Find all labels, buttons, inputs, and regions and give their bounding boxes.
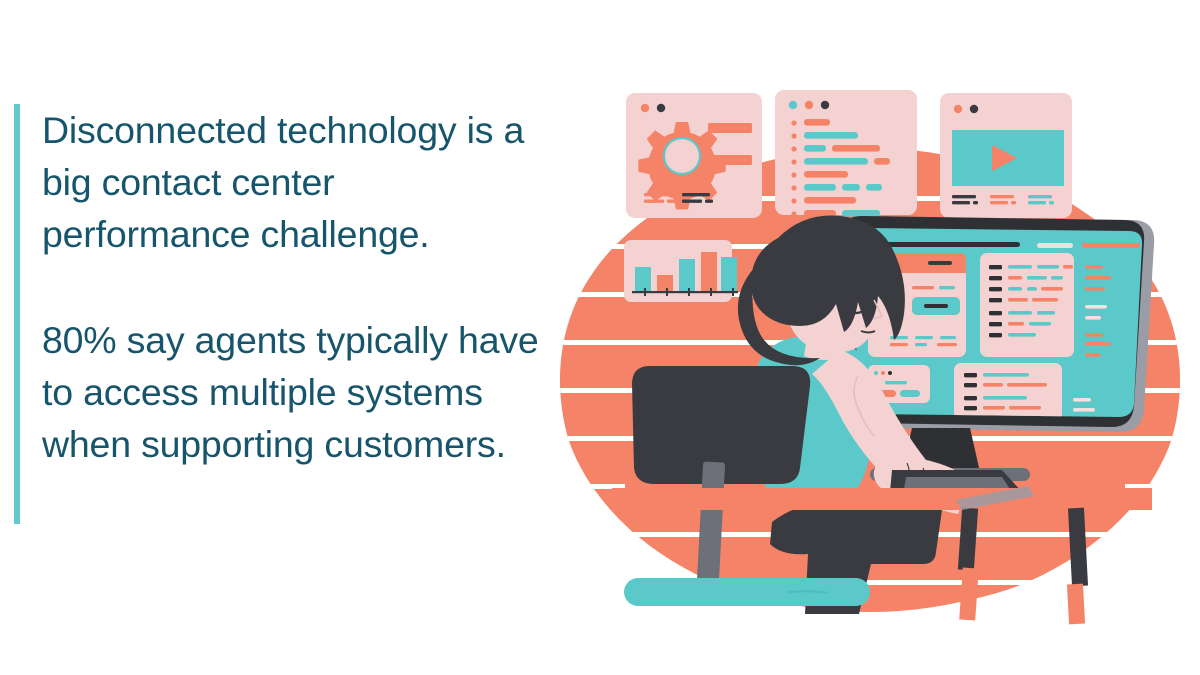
settings-row-1 bbox=[708, 123, 752, 133]
window-dot-dark bbox=[821, 101, 829, 109]
illustration bbox=[540, 0, 1200, 675]
window-dot-coral bbox=[954, 105, 962, 113]
dialog-button-secondary bbox=[900, 390, 920, 397]
callout-paragraph-1: Disconnected technology is a big contact… bbox=[42, 104, 542, 260]
data-list-panel[interactable] bbox=[980, 253, 1074, 357]
window-dot-coral bbox=[805, 101, 813, 109]
callout-paragraph-2: 80% say agents typically have to access … bbox=[42, 314, 542, 470]
bar-chart-window[interactable] bbox=[624, 240, 738, 302]
illustration-svg bbox=[540, 0, 1200, 675]
callout-text-block: Disconnected technology is a big contact… bbox=[20, 104, 542, 524]
video-window[interactable] bbox=[940, 93, 1072, 218]
text-callout: Disconnected technology is a big contact… bbox=[14, 104, 544, 524]
window-dot-coral bbox=[641, 104, 649, 112]
window-dot-dark bbox=[970, 105, 978, 113]
code-window[interactable] bbox=[775, 90, 917, 217]
settings-window[interactable] bbox=[626, 93, 762, 218]
settings-row-2 bbox=[708, 155, 752, 165]
window-dot-dark bbox=[657, 104, 665, 112]
chair-base bbox=[624, 578, 870, 606]
desk-top bbox=[612, 488, 1152, 510]
slide-canvas: Disconnected technology is a big contact… bbox=[0, 0, 1200, 675]
window-dot-teal bbox=[789, 101, 797, 109]
